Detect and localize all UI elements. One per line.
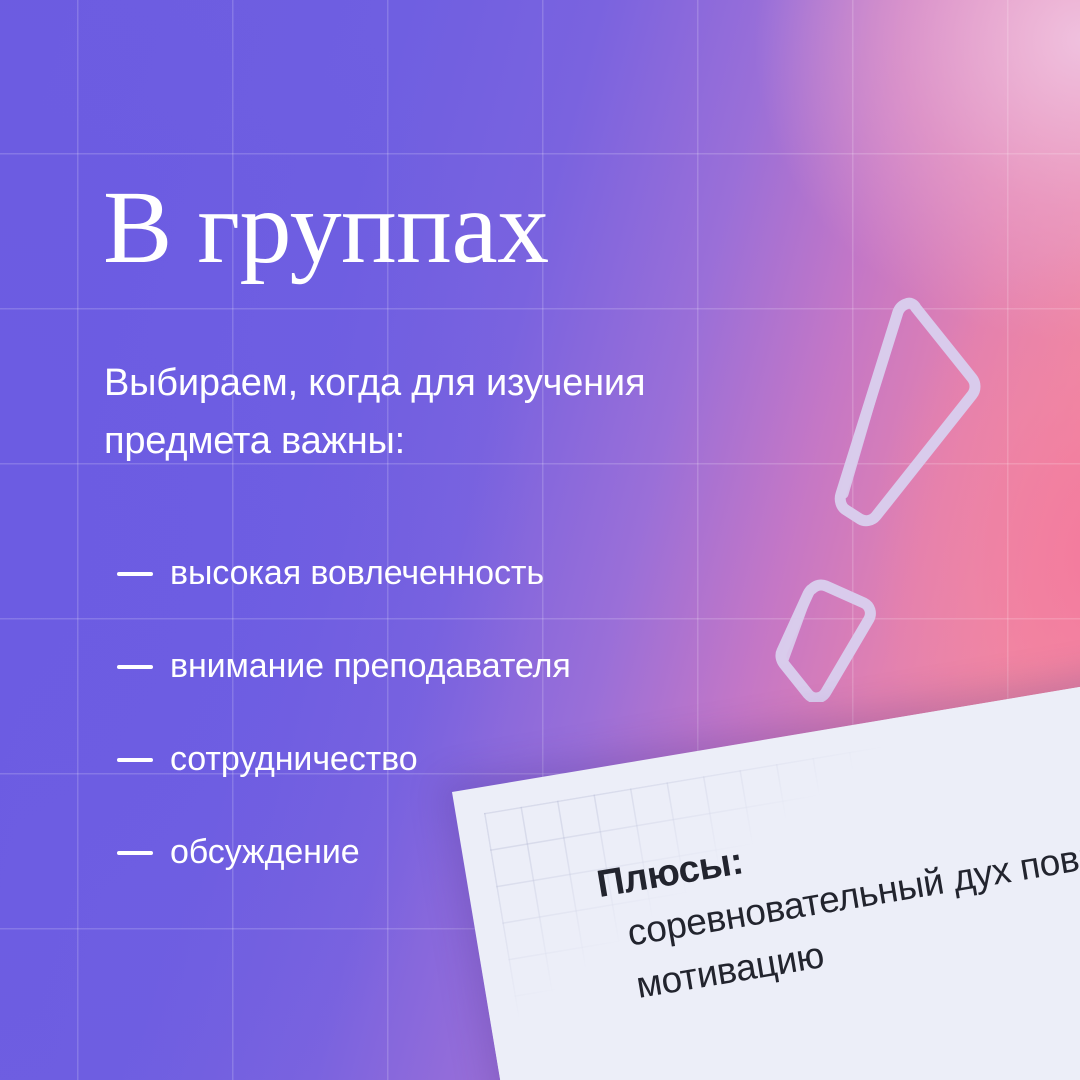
list-item: внимание преподавателя (117, 620, 817, 713)
dash-bullet-icon (117, 665, 153, 669)
dash-bullet-icon (117, 572, 153, 576)
subtitle-text: Выбираем, когда для изучения предмета ва… (104, 355, 764, 471)
list-item-label: внимание преподавателя (170, 647, 571, 686)
list-item: высокая вовлеченность (117, 527, 817, 620)
list-item-label: высокая вовлеченность (170, 554, 544, 593)
dash-bullet-icon (117, 758, 153, 762)
list-item-label: сотрудничество (170, 740, 418, 779)
page-title: В группах (103, 176, 549, 280)
dash-bullet-icon (117, 851, 153, 855)
list-item-label: обсуждение (170, 833, 360, 872)
slide-root: В группах Выбираем, когда для изучения п… (0, 0, 1080, 1080)
